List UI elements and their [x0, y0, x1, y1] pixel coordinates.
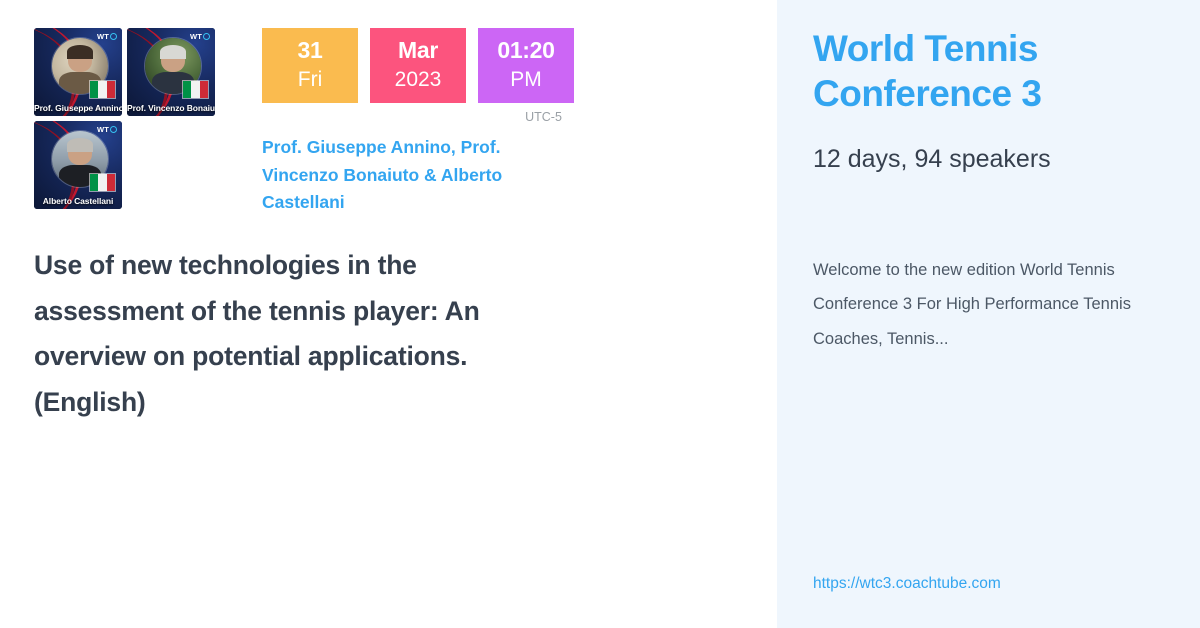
session-title: Use of new technologies in the assessmen…: [34, 243, 554, 425]
day-weekday: Fri: [262, 69, 358, 90]
clock-time: 01:20: [478, 39, 574, 62]
wtc-logo-text: WT: [97, 125, 109, 134]
speaker-thumbnail[interactable]: WT Prof. Giuseppe Annino: [34, 28, 122, 116]
wtc-logo-icon: WT: [190, 32, 210, 41]
wtc-logo-ring: [203, 33, 210, 40]
speaker-name-caption: Prof. Giuseppe Annino: [34, 103, 122, 113]
timezone-label: UTC-5: [492, 110, 595, 124]
conference-stats: 12 days, 94 speakers: [813, 143, 1183, 176]
speaker-thumbnail-grid: WT Prof. Giuseppe Annino: [34, 28, 216, 209]
wtc-logo-text: WT: [97, 32, 109, 41]
conference-info-pane: World Tennis Conference 3 12 days, 94 sp…: [777, 0, 1200, 628]
speaker-name-caption: Prof. Vincenzo Bonaiuto: [127, 103, 215, 113]
speaker-thumbnail[interactable]: WT Prof. Vincenzo Bonaiuto: [127, 28, 215, 116]
avatar-hair: [160, 45, 187, 58]
avatar-hair: [67, 45, 94, 58]
speaker-thumbnail[interactable]: WT Alberto Castellani: [34, 121, 122, 209]
wtc-logo-ring: [110, 126, 117, 133]
avatar-hair: [67, 138, 94, 151]
year-number: 2023: [370, 69, 466, 90]
italy-flag-icon: [89, 80, 116, 99]
italy-flag-icon: [182, 80, 209, 99]
event-details-pane: WT Prof. Giuseppe Annino: [0, 0, 777, 628]
date-badge-time: 01:20 PM: [478, 28, 574, 103]
italy-flag-icon: [89, 173, 116, 192]
speaker-name-caption: Alberto Castellani: [34, 196, 122, 206]
month-name: Mar: [370, 39, 466, 62]
clock-meridiem: PM: [478, 69, 574, 90]
date-time-badges: 31 Fri Mar 2023 01:20 PM: [262, 28, 574, 103]
event-meta-column: 31 Fri Mar 2023 01:20 PM UTC-5 Prof. Giu…: [262, 28, 574, 217]
wtc-logo-icon: WT: [97, 32, 117, 41]
wtc-logo-text: WT: [190, 32, 202, 41]
wtc-logo-icon: WT: [97, 125, 117, 134]
conference-url-link[interactable]: https://wtc3.coachtube.com: [813, 575, 1001, 594]
speakers-list-link[interactable]: Prof. Giuseppe Annino, Prof. Vincenzo Bo…: [262, 134, 562, 217]
date-badge-month: Mar 2023: [370, 28, 466, 103]
conference-title: World Tennis Conference 3: [813, 26, 1173, 116]
event-header: WT Prof. Giuseppe Annino: [34, 28, 574, 217]
day-number: 31: [262, 39, 358, 62]
date-badge-day: 31 Fri: [262, 28, 358, 103]
event-preview-card: WT Prof. Giuseppe Annino: [0, 0, 1200, 628]
wtc-logo-ring: [110, 33, 117, 40]
conference-description: Welcome to the new edition World Tennis …: [813, 253, 1175, 356]
